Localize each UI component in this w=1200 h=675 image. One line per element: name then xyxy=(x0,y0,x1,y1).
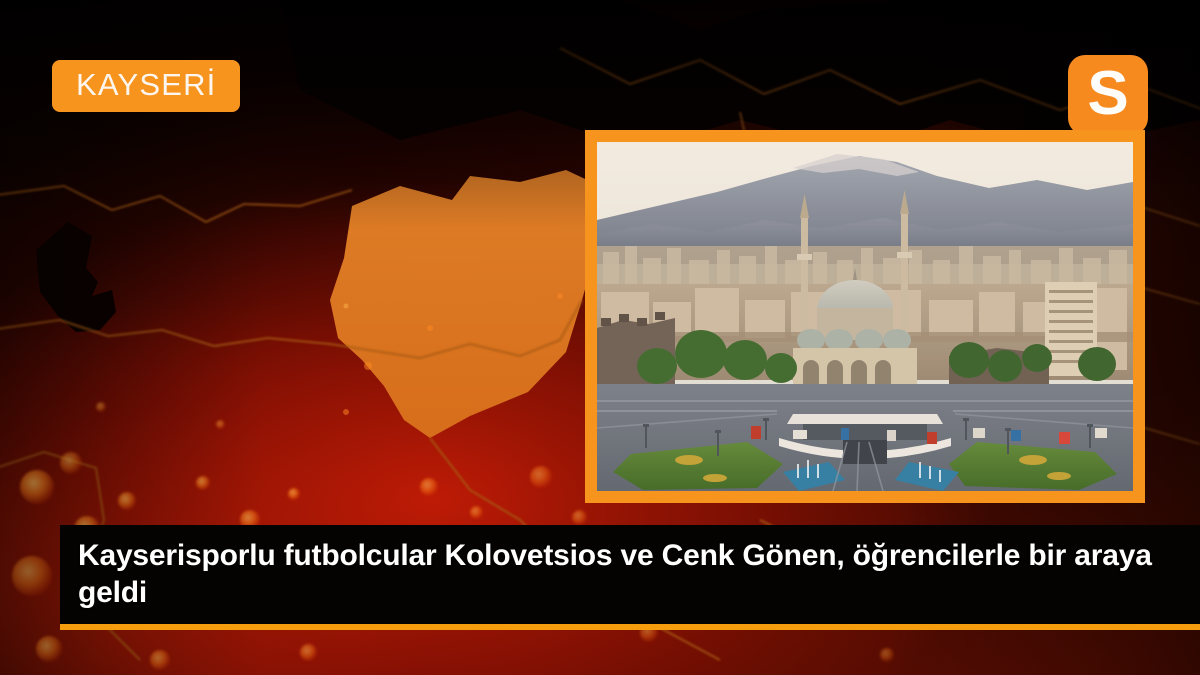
map-highlight-kayseri xyxy=(330,170,600,438)
photo-frame xyxy=(585,130,1145,503)
brand-s-logo[interactable]: S xyxy=(1068,55,1148,135)
brand-logo-letter: S xyxy=(1087,63,1128,125)
headline-text: Kayserisporlu futbolcular Kolovetsios ve… xyxy=(78,537,1180,611)
city-badge-label: KAYSERİ xyxy=(76,67,216,102)
headline-bar: Kayserisporlu futbolcular Kolovetsios ve… xyxy=(60,525,1200,630)
city-photo xyxy=(597,142,1133,491)
city-badge: KAYSERİ xyxy=(52,60,240,112)
news-card: KAYSERİ S xyxy=(0,0,1200,675)
